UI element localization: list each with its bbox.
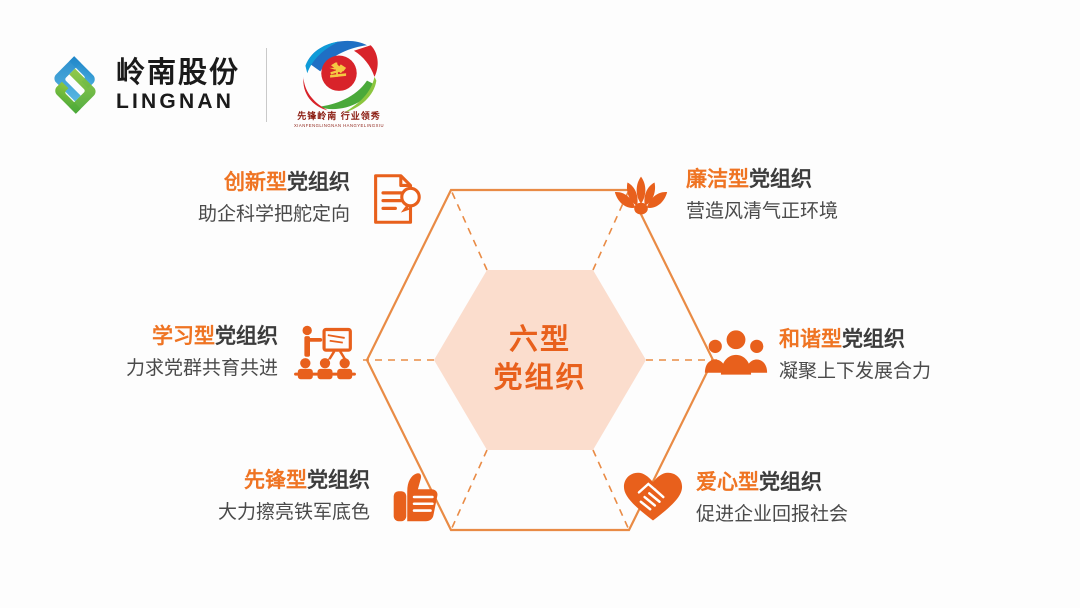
heart-handshake-icon [620,468,682,530]
node-integrity[interactable]: 廉洁型党组织 营造风清气正环境 [610,165,838,227]
node-innovation-subtitle: 助企科学把舵定向 [198,201,350,229]
node-learning-title-rest: 党组织 [215,325,278,348]
node-harmony-title-rest: 党组织 [842,328,905,351]
brand-name-en: LINGNAN [116,90,240,113]
node-pioneer-title-rest: 党组织 [307,469,370,492]
node-pioneer-text: 先锋型党组织 大力擦亮铁军底色 [218,467,370,527]
node-integrity-title: 廉洁型党组织 [686,166,838,194]
node-learning-title-highlight: 学习型 [152,325,215,348]
brand-name-cn: 岭南股份 [116,57,240,89]
node-harmony-subtitle: 凝聚上下发展合力 [779,358,931,386]
node-innovation-title-highlight: 创新型 [224,171,287,194]
lingnan-diamond-logo-icon [46,56,104,114]
node-learning-text: 学习型党组织 力求党群共育共进 [126,323,278,383]
node-integrity-text: 廉洁型党组织 营造风清气正环境 [686,166,838,226]
classroom-teaching-icon [292,322,354,384]
six-type-party-diagram: 六型 党组织 创新型党组织 助企科学把舵定向 [0,140,1080,580]
node-harmony-text: 和谐型党组织 凝聚上下发展合力 [779,326,931,386]
node-integrity-title-rest: 党组织 [749,168,812,191]
center-title-line1: 六型 [509,322,571,360]
node-pioneer-subtitle: 大力擦亮铁军底色 [218,499,370,527]
node-learning-subtitle: 力求党群共育共进 [126,355,278,383]
node-innovation[interactable]: 创新型党组织 助企科学把舵定向 [198,168,426,230]
document-magnifier-icon [364,168,426,230]
node-love-subtitle: 促进企业回报社会 [696,501,848,529]
node-love-title-rest: 党组织 [759,471,822,494]
node-innovation-title-rest: 党组织 [287,171,350,194]
node-innovation-title: 创新型党组织 [224,169,350,197]
center-title-line2: 党组织 [493,360,586,398]
lingnan-brand-text: 岭南股份 LINGNAN [116,57,240,113]
lingnan-brand: 岭南股份 LINGNAN [46,56,240,114]
people-group-icon [703,325,765,387]
party-caption-pinyin: XIANFENGLINGNAN HANGYELINGXIU [291,123,387,128]
node-pioneer-title-highlight: 先锋型 [244,469,307,492]
thumbs-up-icon [384,466,446,528]
node-learning[interactable]: 学习型党组织 力求党群共育共进 [126,322,354,384]
node-pioneer-title: 先锋型党组织 [244,467,370,495]
infographic-page: 岭南股份 LINGNAN [0,0,1080,608]
party-emblem-logo-icon: 先锋岭南 行业领秀 XIANFENGLINGNAN HANGYELINGXIU [291,34,387,136]
node-harmony-title-highlight: 和谐型 [779,328,842,351]
node-love-title-highlight: 爱心型 [696,471,759,494]
node-learning-title: 学习型党组织 [152,323,278,351]
node-love-title: 爱心型党组织 [696,469,848,497]
node-love-text: 爱心型党组织 促进企业回报社会 [696,469,848,529]
node-integrity-title-highlight: 廉洁型 [686,168,749,191]
node-love[interactable]: 爱心型党组织 促进企业回报社会 [620,468,848,530]
party-caption-cn: 先锋岭南 行业领秀 [291,109,387,122]
header-divider [266,48,267,122]
node-pioneer[interactable]: 先锋型党组织 大力擦亮铁军底色 [218,466,446,528]
header-logos: 岭南股份 LINGNAN [46,30,387,140]
node-integrity-subtitle: 营造风清气正环境 [686,198,838,226]
node-harmony-title: 和谐型党组织 [779,326,931,354]
node-harmony[interactable]: 和谐型党组织 凝聚上下发展合力 [703,325,931,387]
node-innovation-text: 创新型党组织 助企科学把舵定向 [198,169,350,229]
lotus-icon [610,165,672,227]
party-logo-caption: 先锋岭南 行业领秀 XIANFENGLINGNAN HANGYELINGXIU [291,109,387,128]
